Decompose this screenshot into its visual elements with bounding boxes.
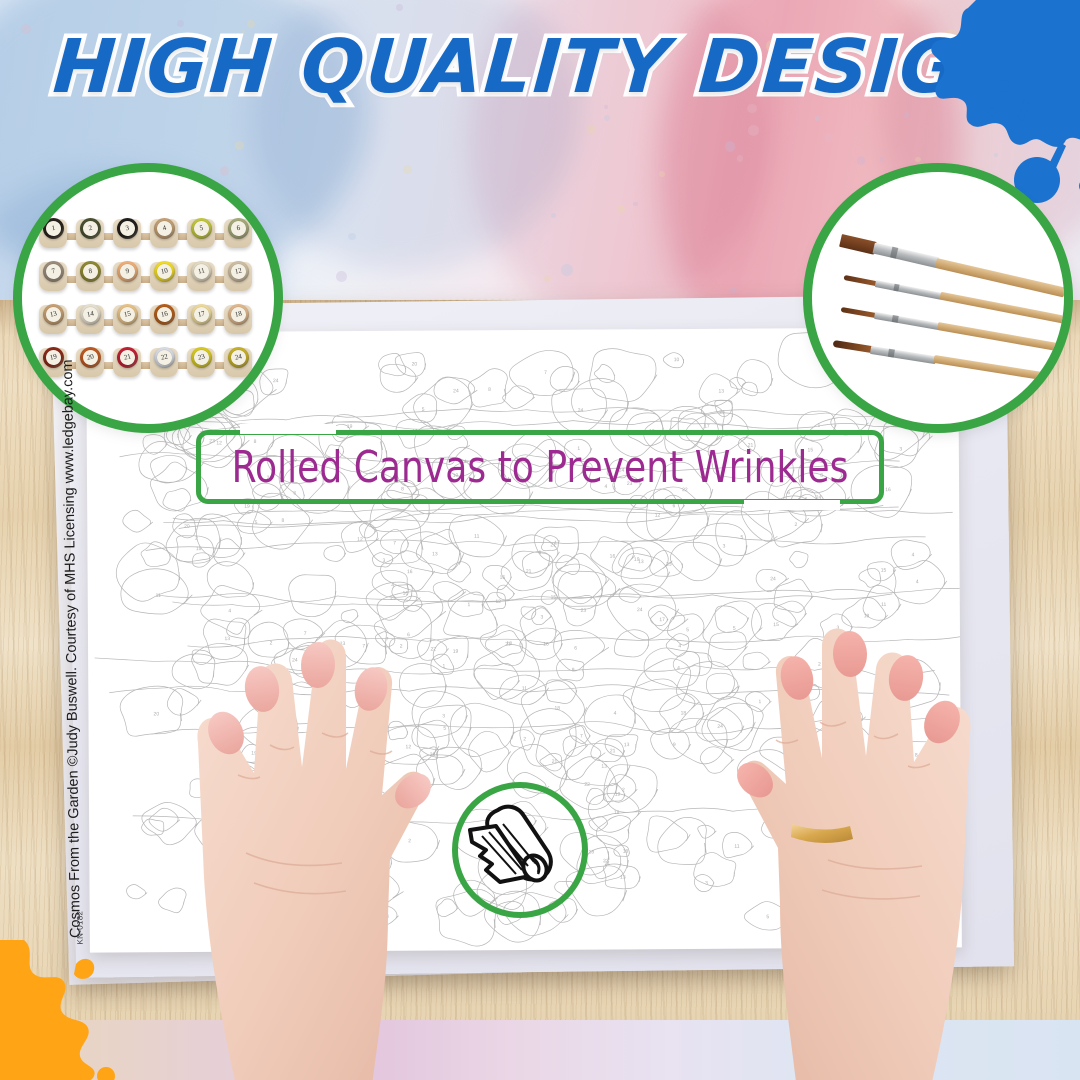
paint-pot: 14: [75, 302, 105, 336]
paint-pot-row: 123456: [38, 216, 260, 250]
background-speck: [551, 213, 556, 218]
svg-text:23: 23: [666, 562, 672, 568]
paint-pot: 20: [75, 345, 105, 379]
background-speck: [235, 141, 244, 150]
svg-text:4: 4: [614, 711, 617, 717]
svg-text:11: 11: [881, 602, 886, 608]
paint-pot: 17: [186, 302, 216, 336]
paint-pot: 21: [112, 345, 142, 379]
left-hand: [150, 615, 550, 1080]
svg-text:20: 20: [412, 361, 418, 367]
flat-brush: [842, 234, 1064, 286]
background-speck: [220, 166, 230, 176]
background-speck: [604, 115, 610, 121]
svg-text:16: 16: [885, 487, 891, 493]
svg-text:5: 5: [740, 535, 743, 541]
svg-text:8: 8: [281, 518, 284, 524]
svg-text:18: 18: [589, 849, 595, 855]
right-hand: [618, 612, 1018, 1080]
svg-text:5: 5: [422, 407, 425, 413]
svg-text:1: 1: [817, 423, 820, 429]
background-speck: [880, 157, 885, 162]
svg-text:23: 23: [581, 608, 587, 614]
svg-text:4: 4: [912, 552, 915, 558]
paint-pot: 10: [149, 259, 179, 293]
paint-pot: 7: [38, 259, 68, 293]
paint-pot: 5: [186, 216, 216, 250]
svg-text:21: 21: [552, 759, 558, 765]
paint-pot: 23: [186, 345, 216, 379]
svg-text:7: 7: [544, 370, 547, 376]
svg-text:19: 19: [634, 557, 640, 563]
paint-pot: 12: [223, 259, 253, 293]
svg-text:24: 24: [453, 388, 459, 394]
paint-pot: 9: [112, 259, 142, 293]
feature-banner: Rolled Canvas to Prevent Wrinkles: [196, 430, 884, 504]
paint-pot-row: 131415161718: [38, 302, 260, 336]
svg-text:21: 21: [526, 569, 532, 575]
svg-text:18: 18: [555, 706, 561, 712]
svg-text:16: 16: [403, 591, 409, 597]
svg-text:2: 2: [195, 536, 198, 542]
svg-text:1: 1: [177, 433, 180, 439]
svg-text:24: 24: [770, 576, 776, 582]
svg-text:4: 4: [916, 579, 919, 585]
svg-text:3: 3: [899, 446, 902, 452]
svg-text:4: 4: [228, 608, 231, 614]
paint-pot: 16: [149, 302, 179, 336]
svg-text:15: 15: [881, 568, 887, 574]
svg-text:23: 23: [390, 596, 396, 602]
svg-text:13: 13: [601, 764, 607, 770]
product-code: KN-0182: [75, 900, 85, 944]
svg-text:7: 7: [393, 540, 396, 546]
svg-text:15: 15: [196, 546, 202, 552]
paint-pot: 13: [38, 302, 68, 336]
svg-text:12: 12: [495, 599, 501, 605]
paint-pot: 22: [149, 345, 179, 379]
svg-text:16: 16: [610, 554, 616, 560]
svg-text:21: 21: [550, 542, 556, 548]
svg-text:13: 13: [432, 551, 438, 557]
svg-text:11: 11: [474, 534, 479, 540]
paint-pot: 8: [75, 259, 105, 293]
svg-text:16: 16: [500, 575, 506, 581]
svg-text:3: 3: [723, 543, 726, 549]
svg-text:3: 3: [382, 558, 385, 564]
product-marketing-image: 2431219121220228172116515223677214313413…: [0, 0, 1080, 1080]
svg-text:2: 2: [794, 522, 797, 528]
svg-text:6: 6: [672, 503, 675, 509]
svg-text:8: 8: [488, 387, 491, 393]
svg-text:6: 6: [538, 550, 541, 556]
svg-text:9: 9: [572, 667, 575, 673]
svg-text:21: 21: [605, 861, 611, 867]
paint-pot-row: 789101112: [38, 259, 260, 293]
svg-text:12: 12: [655, 513, 661, 519]
background-speck: [633, 202, 638, 207]
svg-text:11: 11: [156, 593, 161, 599]
svg-text:21: 21: [610, 748, 616, 754]
svg-text:19: 19: [347, 424, 353, 430]
svg-text:5: 5: [255, 520, 258, 526]
background-speck: [815, 116, 820, 121]
paint-pot: 2: [75, 216, 105, 250]
svg-text:23: 23: [719, 410, 725, 416]
svg-text:17: 17: [704, 424, 710, 430]
background-speck: [737, 155, 744, 162]
svg-text:13: 13: [718, 389, 724, 395]
background-speck: [544, 275, 551, 282]
paint-pot: 18: [223, 302, 253, 336]
svg-text:20: 20: [184, 524, 190, 530]
background-speck: [748, 125, 759, 136]
svg-text:24: 24: [578, 408, 584, 414]
paint-pot: 15: [112, 302, 142, 336]
svg-text:7: 7: [580, 734, 583, 740]
background-speck: [396, 4, 402, 10]
background-speck: [561, 264, 573, 276]
background-speck: [403, 165, 412, 174]
svg-text:24: 24: [273, 378, 279, 384]
svg-text:4: 4: [391, 583, 394, 589]
paint-pot: 3: [112, 216, 142, 250]
paint-pot: 4: [149, 216, 179, 250]
banner-label: Rolled Canvas to Prevent Wrinkles: [258, 430, 822, 504]
round-brush-medium: [845, 272, 1064, 316]
svg-text:10: 10: [674, 357, 680, 363]
svg-text:16: 16: [407, 569, 413, 575]
svg-text:22: 22: [584, 782, 590, 788]
paint-pot: 24: [223, 345, 253, 379]
svg-text:12: 12: [357, 537, 363, 543]
svg-text:15: 15: [551, 595, 557, 601]
paint-pot: 1: [38, 216, 68, 250]
paint-brushes-callout: [812, 172, 1064, 424]
paint-pot: 6: [223, 216, 253, 250]
svg-text:19: 19: [244, 504, 250, 510]
background-speck: [617, 205, 624, 212]
svg-text:1: 1: [467, 602, 470, 608]
background-speck: [857, 156, 866, 165]
paint-pot: 11: [186, 259, 216, 293]
svg-text:6: 6: [574, 645, 577, 651]
